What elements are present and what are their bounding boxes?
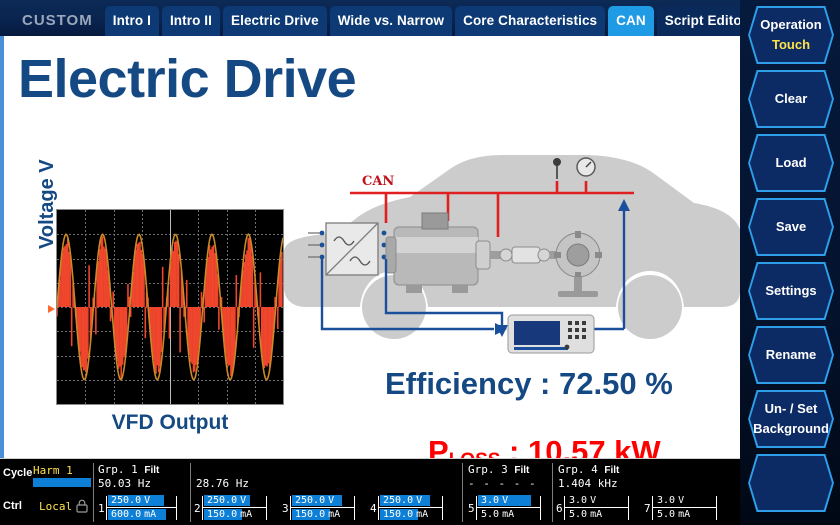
channel-bracket-right (266, 496, 267, 520)
soft-key-rail: Operation Touch Clear Load Save Settings… (740, 0, 840, 525)
softkey-unset-background-line2: Background (753, 422, 829, 437)
efficiency-value: 72.50 % (559, 366, 673, 401)
channel-scale-line (107, 507, 176, 508)
channel-scale-line (653, 507, 716, 508)
custom-label: CUSTOM (0, 13, 105, 36)
channel-scale-line (565, 507, 628, 508)
unit: V (416, 495, 422, 506)
group-1-name[interactable]: Grp. 1 Filt (98, 463, 159, 476)
channel-4-current-bar: 150.0mA (380, 509, 418, 520)
channel-bracket-right (628, 496, 629, 520)
unit: mA (144, 509, 156, 520)
channel-bracket-right (442, 496, 443, 520)
value: 250.0 (111, 495, 141, 506)
softkey-operation-value: Touch (772, 38, 810, 53)
softkey-load[interactable]: Load (748, 134, 834, 192)
status-bar: Cycle Harm 1 Ctrl Local Grp. 1 Filt 50.0… (0, 458, 740, 525)
channel-bracket-left (106, 496, 107, 520)
scope-panel: Voltage V VFD Output (46, 209, 286, 444)
softkey-save-label: Save (776, 220, 806, 235)
tab-wide-vs-narrow[interactable]: Wide vs. Narrow (330, 6, 452, 36)
tab-bar: CUSTOM Intro I Intro II Electric Drive W… (0, 0, 740, 36)
gauge-sensor-icon (577, 158, 595, 176)
power-loss-readout: PLOSS : 10.57 kW (428, 434, 661, 458)
power-loss-subscript: LOSS (449, 450, 501, 458)
scope-display[interactable] (56, 209, 284, 405)
tab-core-characteristics[interactable]: Core Characteristics (455, 6, 605, 36)
value: 150.0 (207, 509, 237, 520)
value: 250.0 (295, 495, 325, 506)
channel-6-voltage-bar: 3.0V (566, 495, 604, 506)
page-title: Electric Drive (18, 52, 356, 106)
unit: V (240, 495, 246, 506)
unit: V (328, 495, 334, 506)
tab-can[interactable]: CAN (608, 6, 654, 36)
channel-bracket-left (202, 496, 203, 520)
value: 3.0 (657, 495, 675, 506)
channel-3-current-bar: 150.0mA (292, 509, 330, 520)
efficiency-label: Efficiency : (385, 366, 550, 401)
channel-2-voltage-bar: 250.0V (204, 495, 250, 506)
application-window: CUSTOM Intro I Intro II Electric Drive W… (0, 0, 840, 525)
softkey-clear[interactable]: Clear (748, 70, 834, 128)
unit: V (144, 495, 150, 506)
scope-trigger-marker (48, 305, 55, 313)
softkey-load-label: Load (775, 156, 806, 171)
softkey-unset-background[interactable]: Un- / Set Background (748, 390, 834, 448)
power-analyzer-device (508, 315, 594, 353)
channel-1-voltage-bar: 250.0V (108, 495, 164, 506)
value: 5.0 (569, 509, 587, 520)
value: 600.0 (111, 509, 141, 520)
channel-bracket-right (540, 496, 541, 520)
tab-intro-i[interactable]: Intro I (105, 6, 159, 36)
channel-2-current-bar: 150.0mA (204, 509, 242, 520)
can-bus-label: CAN (362, 174, 394, 189)
group-2-frequency: 28.76 Hz (196, 477, 249, 490)
channel-5-readout[interactable]: 53.0V5.0mA (468, 493, 548, 523)
value: 250.0 (207, 495, 237, 506)
channel-7-current-bar: 5.0mA (654, 509, 692, 520)
scope-caption: VFD Output (56, 411, 284, 435)
unit: mA (328, 509, 340, 520)
channel-5-index: 5 (468, 502, 475, 515)
channel-1-index: 1 (98, 502, 105, 515)
channel-3-voltage-bar: 250.0V (292, 495, 342, 506)
electric-drive-schematic: CAN (282, 141, 740, 356)
channel-bracket-right (176, 496, 177, 520)
unit: mA (678, 509, 690, 520)
group-4-frequency: 1.404 kHz (558, 477, 618, 490)
value: 3.0 (569, 495, 587, 506)
ctrl-value[interactable]: Local (39, 500, 72, 513)
channel-bracket-left (290, 496, 291, 520)
channel-bracket-left (652, 496, 653, 520)
channel-5-current-bar: 5.0mA (478, 509, 516, 520)
channel-2-readout[interactable]: 2250.0V150.0mA (194, 493, 274, 523)
channel-6-index: 6 (556, 502, 563, 515)
channel-bracket-right (354, 496, 355, 520)
softkey-clear-label: Clear (775, 92, 808, 107)
softkey-unset-background-line1: Un- / Set (765, 402, 818, 417)
value: 150.0 (383, 509, 413, 520)
channel-bracket-right (716, 496, 717, 520)
channel-7-index: 7 (644, 502, 651, 515)
channel-7-readout[interactable]: 73.0V5.0mA (644, 493, 724, 523)
channel-1-readout[interactable]: 1250.0V600.0mA (98, 493, 184, 523)
channel-scale-line (203, 507, 266, 508)
power-analyzer-label: Power Analyzer (495, 355, 607, 356)
channel-3-readout[interactable]: 3250.0V150.0mA (282, 493, 362, 523)
softkey-settings[interactable]: Settings (748, 262, 834, 320)
group-3-name[interactable]: Grp. 3 Filt (468, 463, 529, 476)
value: 250.0 (383, 495, 413, 506)
value: 150.0 (295, 509, 325, 520)
power-loss-separator: : (500, 434, 528, 458)
efficiency-readout: Efficiency : 72.50 % (385, 366, 673, 402)
softkey-rename[interactable]: Rename (748, 326, 834, 384)
tab-electric-drive[interactable]: Electric Drive (223, 6, 327, 36)
unit: mA (502, 509, 514, 520)
softkey-operation[interactable]: Operation Touch (748, 6, 834, 64)
channel-4-readout[interactable]: 4250.0V150.0mA (370, 493, 450, 523)
unit: V (678, 495, 684, 506)
channel-scale-line (477, 507, 540, 508)
channel-6-readout[interactable]: 63.0V5.0mA (556, 493, 636, 523)
channel-bracket-left (564, 496, 565, 520)
cycle-progress-bar (33, 478, 91, 487)
channel-scale-line (291, 507, 354, 508)
unit: mA (240, 509, 252, 520)
unit: V (590, 495, 596, 506)
cycle-value[interactable]: Harm 1 (33, 464, 73, 477)
lock-icon (76, 499, 88, 513)
channel-1-current-bar: 600.0mA (108, 509, 166, 520)
power-loss-value: 10.57 kW (528, 434, 661, 458)
ctrl-label: Ctrl (3, 500, 22, 512)
channel-4-voltage-bar: 250.0V (380, 495, 430, 506)
softkey-save[interactable]: Save (748, 198, 834, 256)
softkey-operation-label: Operation (760, 18, 821, 33)
cycle-label: Cycle (3, 467, 32, 479)
channel-6-current-bar: 5.0mA (566, 509, 604, 520)
group-3-frequency: - - - - - (468, 477, 537, 490)
main-canvas: Electric Drive CAN (0, 36, 740, 458)
unit: mA (590, 509, 602, 520)
value: 5.0 (657, 509, 675, 520)
softkey-settings-label: Settings (765, 284, 816, 299)
softkey-empty[interactable] (748, 454, 834, 512)
channel-2-index: 2 (194, 502, 201, 515)
channel-3-index: 3 (282, 502, 289, 515)
channel-bracket-left (378, 496, 379, 520)
channel-bracket-left (476, 496, 477, 520)
tab-intro-ii[interactable]: Intro II (162, 6, 220, 36)
car-wheel-rear (618, 275, 682, 339)
value: 5.0 (481, 509, 499, 520)
scope-waveform (57, 210, 283, 404)
softkey-rename-label: Rename (766, 348, 817, 363)
unit: V (502, 495, 508, 506)
channel-scale-line (379, 507, 442, 508)
group-1-frequency: 50.03 Hz (98, 477, 151, 490)
value: 3.0 (481, 495, 499, 506)
unit: mA (416, 509, 428, 520)
channel-5-voltage-bar: 3.0V (478, 495, 531, 506)
group-4-name[interactable]: Grp. 4 Filt (558, 463, 619, 476)
power-loss-label: P (428, 434, 449, 458)
channel-7-voltage-bar: 3.0V (654, 495, 692, 506)
channel-4-index: 4 (370, 502, 377, 515)
